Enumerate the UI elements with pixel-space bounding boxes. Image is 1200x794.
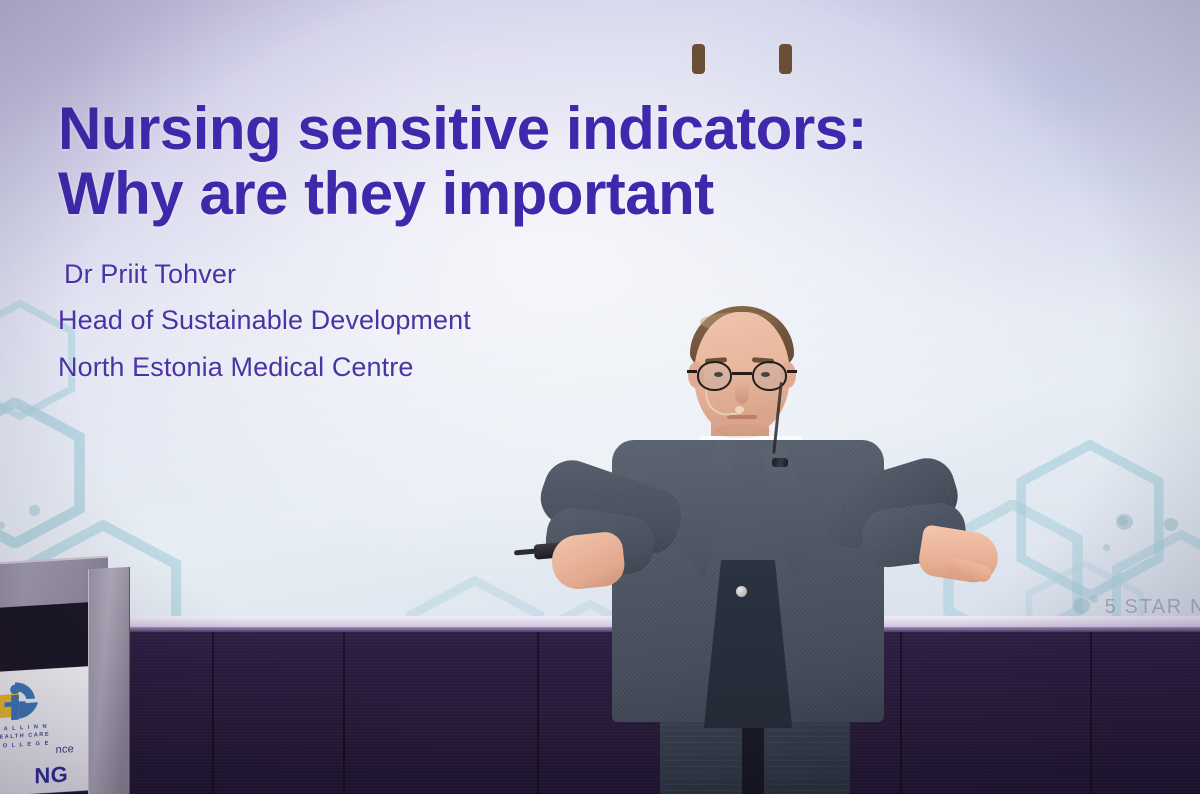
dot-decor xyxy=(0,522,5,529)
podium-sign-text-large: NG xyxy=(0,761,68,794)
wall-seam xyxy=(343,632,345,794)
podium-post xyxy=(88,567,130,794)
wall-seam xyxy=(212,632,214,794)
dot-decor xyxy=(1118,516,1128,526)
hexagon-icon xyxy=(0,398,90,548)
tallinn-health-care-college-logo-icon xyxy=(0,679,44,727)
hexagon-icon xyxy=(1010,440,1170,600)
wall-seam xyxy=(900,632,902,794)
presenter-name: Dr Priit Tohver xyxy=(64,251,998,297)
slide-title-line-2: Why are they important xyxy=(58,161,998,226)
dot-decor xyxy=(29,505,40,516)
podium-sign-text-small: nce xyxy=(0,743,74,762)
slide-title-line-1: Nursing sensitive indicators: xyxy=(58,95,867,162)
wall-seam xyxy=(1090,632,1092,794)
podium: T A L L I N N HEALTH CARE C O L L E G E … xyxy=(0,560,150,794)
blob-decor xyxy=(1164,518,1178,531)
stage-wall xyxy=(0,632,1200,794)
projection-screen: Nursing sensitive indicators: Why are th… xyxy=(0,0,1200,632)
dot-decor xyxy=(1090,595,1098,603)
slide-title: Nursing sensitive indicators: Why are th… xyxy=(58,96,998,227)
presenter-role: Head of Sustainable Development xyxy=(58,297,998,343)
blob-decor xyxy=(1073,598,1090,614)
podium-sign: T A L L I N N HEALTH CARE C O L L E G E … xyxy=(0,666,92,794)
wall-seam xyxy=(537,632,539,794)
blob-decor xyxy=(1116,514,1133,530)
slide-text-block: Nursing sensitive indicators: Why are th… xyxy=(58,96,998,390)
conference-presentation-photo: Nursing sensitive indicators: Why are th… xyxy=(0,0,1200,794)
hexagon-icon xyxy=(938,500,1088,632)
dot-decor xyxy=(1103,544,1110,551)
slide-subtitle-block: Dr Priit Tohver Head of Sustainable Deve… xyxy=(58,251,998,390)
presenter-organisation: North Estonia Medical Centre xyxy=(58,344,998,390)
